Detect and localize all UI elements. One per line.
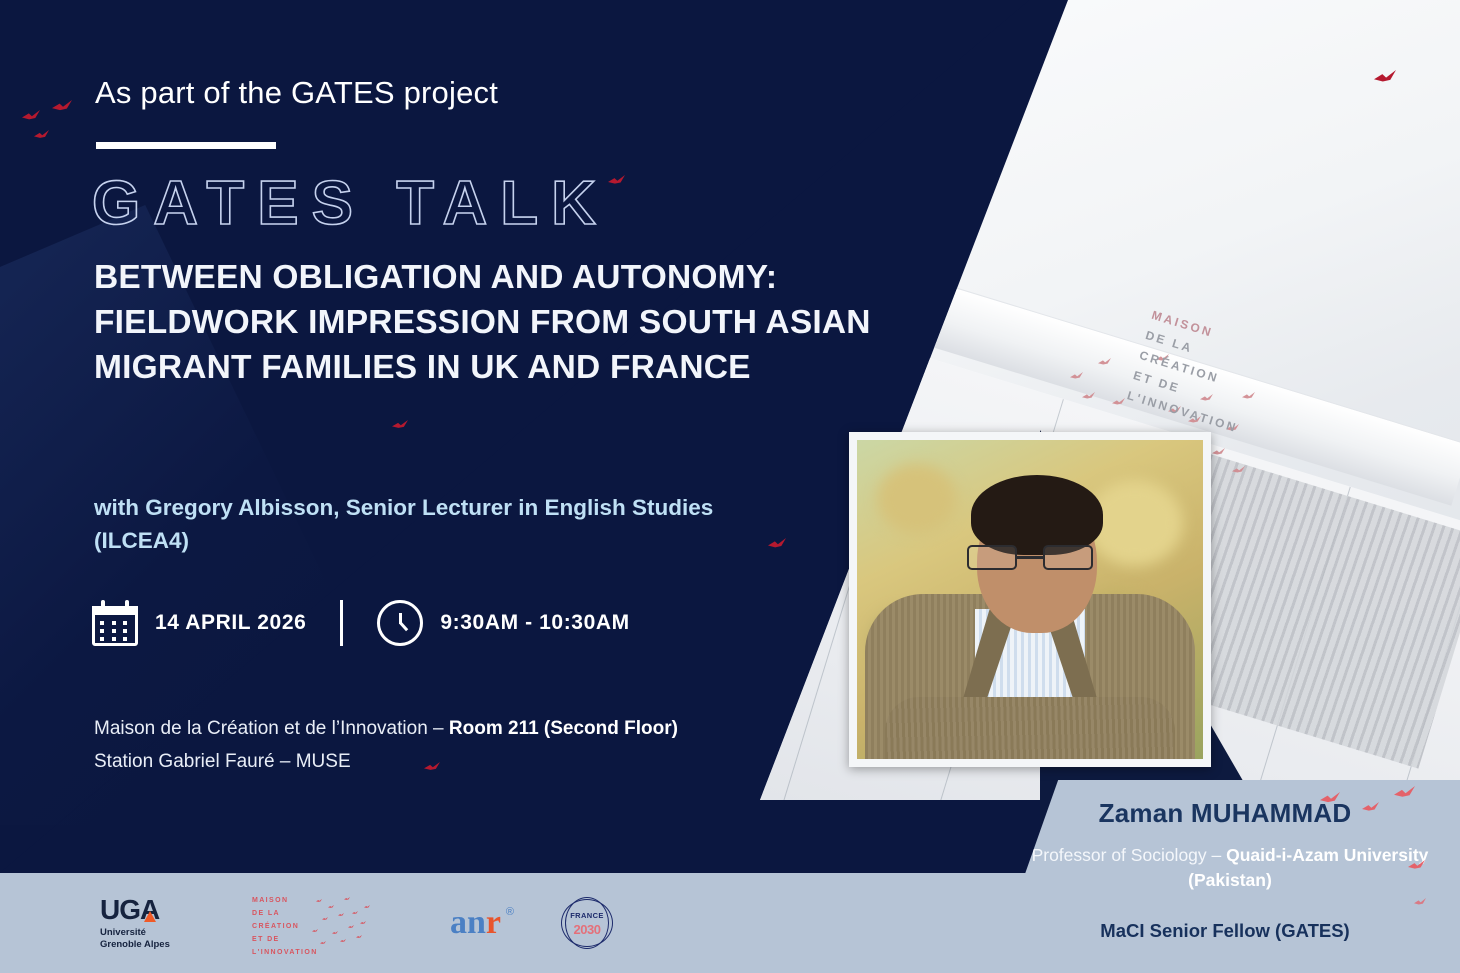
venue-text-plain: Maison de la Création et de l’Innovation… — [94, 718, 449, 739]
date-time-row: 14 APRIL 2026 9:30AM - 10:30AM — [92, 600, 630, 646]
speaker-name: Zaman MUHAMMAD — [990, 798, 1460, 829]
venue-line-1: Maison de la Création et de l’Innovation… — [94, 712, 854, 745]
anr-logo: anr® — [450, 904, 501, 942]
uga-wordmark: UGA — [100, 896, 159, 924]
time-text: 9:30AM - 10:30AM — [440, 611, 629, 635]
venue-room: Room 211 (Second Floor) — [449, 718, 678, 739]
uga-subtitle: Université Grenoble Alpes — [100, 927, 194, 951]
mci-line-5: L'INNOVATION — [252, 947, 392, 960]
anr-blue-part: an — [450, 904, 486, 941]
mci-line-3: CRÉATION — [252, 921, 392, 934]
poster-canvas: MAISON DE LA CRÉATION ET DE L'INNOVATION… — [0, 0, 1460, 973]
mci-line-1: MAISON — [252, 895, 392, 908]
time-item: 9:30AM - 10:30AM — [377, 600, 629, 646]
fellowship-project: (GATES) — [1275, 920, 1350, 941]
date-item: 14 APRIL 2026 — [92, 600, 306, 646]
fellowship-title: MaCI Senior Fellow — [1100, 920, 1275, 941]
uga-triangle-icon — [144, 911, 156, 922]
f2030-france-text: FRANCE — [559, 911, 615, 920]
anr-orange-part: r — [486, 904, 501, 941]
mci-line-2: DE LA — [252, 908, 392, 921]
speaker-role: Professor of Sociology – Quaid-i-Azam Un… — [1030, 843, 1430, 894]
speaker-info-panel: Zaman MUHAMMAD Professor of Sociology – … — [990, 780, 1460, 973]
speaker-portrait-frame — [849, 432, 1211, 767]
divider-rule — [96, 142, 276, 149]
registered-icon: ® — [506, 906, 514, 918]
speaker-fellowship: MaCI Senior Fellow (GATES) — [990, 920, 1460, 942]
mci-line-4: ET DE — [252, 934, 392, 947]
logo-row: UGA Université Grenoble Alpes MAISON DE … — [0, 873, 700, 973]
france2030-logo: FRANCE 2030 — [559, 895, 615, 951]
mci-text: MAISON DE LA CRÉATION ET DE L'INNOVATION — [252, 895, 392, 960]
kicker-text: As part of the GATES project — [95, 75, 498, 111]
vertical-separator — [340, 600, 343, 646]
calendar-icon — [92, 600, 138, 646]
mci-logo: MAISON DE LA CRÉATION ET DE L'INNOVATION — [252, 895, 392, 951]
uga-logo: UGA Université Grenoble Alpes — [100, 896, 194, 951]
uga-sub-line-1: Université — [100, 927, 194, 939]
f2030-year-text: 2030 — [559, 922, 615, 937]
speaker-intro: with Gregory Albisson, Senior Lecturer i… — [94, 492, 794, 557]
clock-icon — [377, 600, 423, 646]
speaker-role-plain: Professor of Sociology – — [1032, 845, 1227, 865]
talk-title: BETWEEN OBLIGATION AND AUTONOMY: FIELDWO… — [94, 256, 924, 391]
bird-decoration-icon — [1414, 898, 1426, 907]
gates-talk-wordmark: GATES TALK — [92, 168, 609, 239]
date-text: 14 APRIL 2026 — [155, 611, 306, 635]
uga-sub-line-2: Grenoble Alpes — [100, 939, 194, 951]
venue-block: Maison de la Création et de l’Innovation… — [94, 712, 854, 779]
speaker-portrait — [857, 440, 1203, 759]
venue-line-2: Station Gabriel Fauré – MUSE — [94, 745, 854, 778]
